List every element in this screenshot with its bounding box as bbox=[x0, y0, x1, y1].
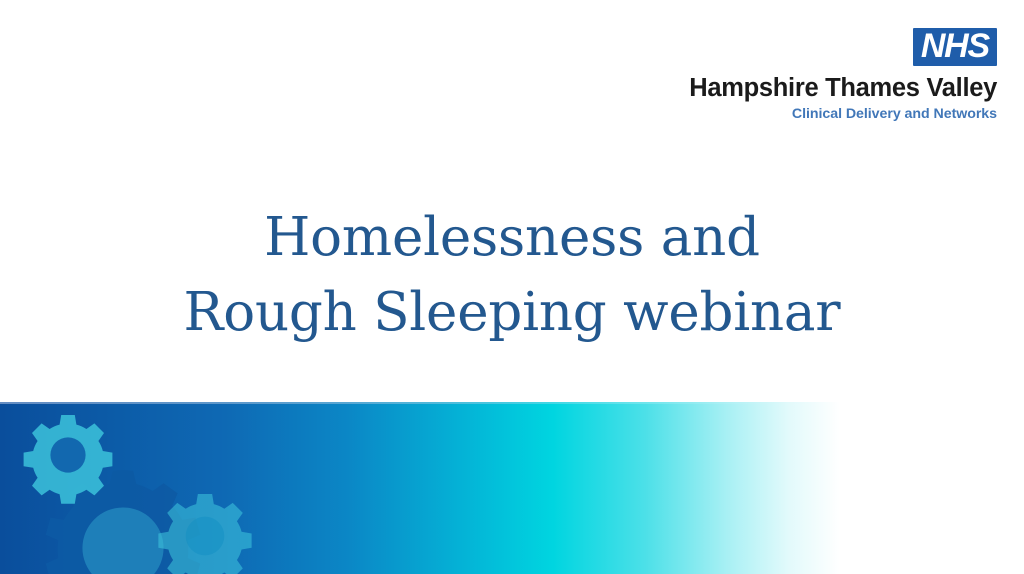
gear-small-middle-icon bbox=[158, 494, 251, 574]
decorative-gradient-band bbox=[0, 402, 1024, 574]
slide-title: Homelessness and Rough Sleeping webinar bbox=[0, 200, 1024, 351]
presentation-slide: NHS Hampshire Thames Valley Clinical Del… bbox=[0, 0, 1024, 574]
nhs-wordmark: NHS bbox=[920, 31, 990, 62]
organisation-strapline: Clinical Delivery and Networks bbox=[667, 107, 997, 122]
nhs-logo-lockup: NHS Hampshire Thames Valley Clinical Del… bbox=[667, 28, 997, 122]
gear-small-top-left-icon bbox=[24, 415, 113, 504]
slide-title-line-1: Homelessness and bbox=[0, 200, 1024, 275]
slide-title-line-2: Rough Sleeping webinar bbox=[0, 275, 1024, 350]
gear-graphics-group bbox=[0, 402, 1024, 574]
band-top-highlight bbox=[0, 402, 1024, 404]
organisation-name: Hampshire Thames Valley bbox=[667, 75, 997, 102]
nhs-logo-badge: NHS bbox=[913, 28, 997, 66]
